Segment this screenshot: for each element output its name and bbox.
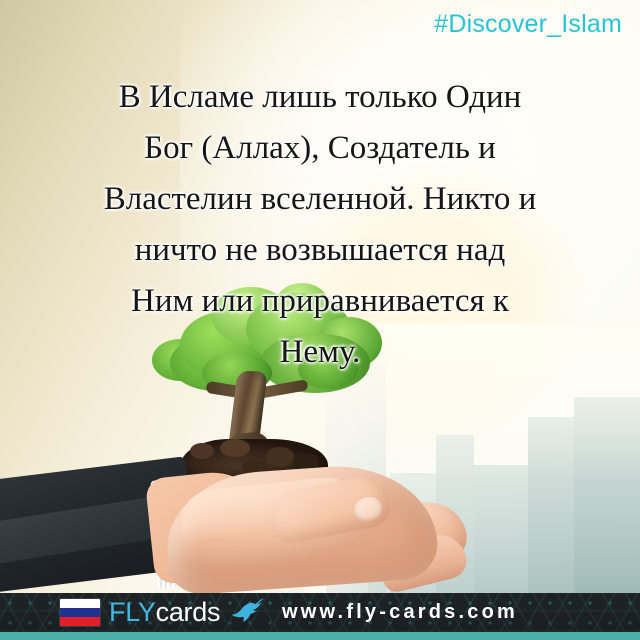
- hashtag-label: #Discover_Islam: [434, 10, 622, 39]
- footer-bar: FLYcards www.fly-cards.com: [0, 593, 640, 640]
- quote-text: В Исламе лишь только Один Бог (Аллах), С…: [28, 72, 612, 378]
- islamic-quote-card: #Discover_Islam В Исламе лишь только Оди…: [0, 0, 640, 640]
- footer-accent-bar: [0, 632, 640, 640]
- arm-and-hand: [0, 443, 320, 593]
- website-url[interactable]: www.fly-cards.com: [0, 593, 640, 632]
- open-hand: [166, 455, 466, 587]
